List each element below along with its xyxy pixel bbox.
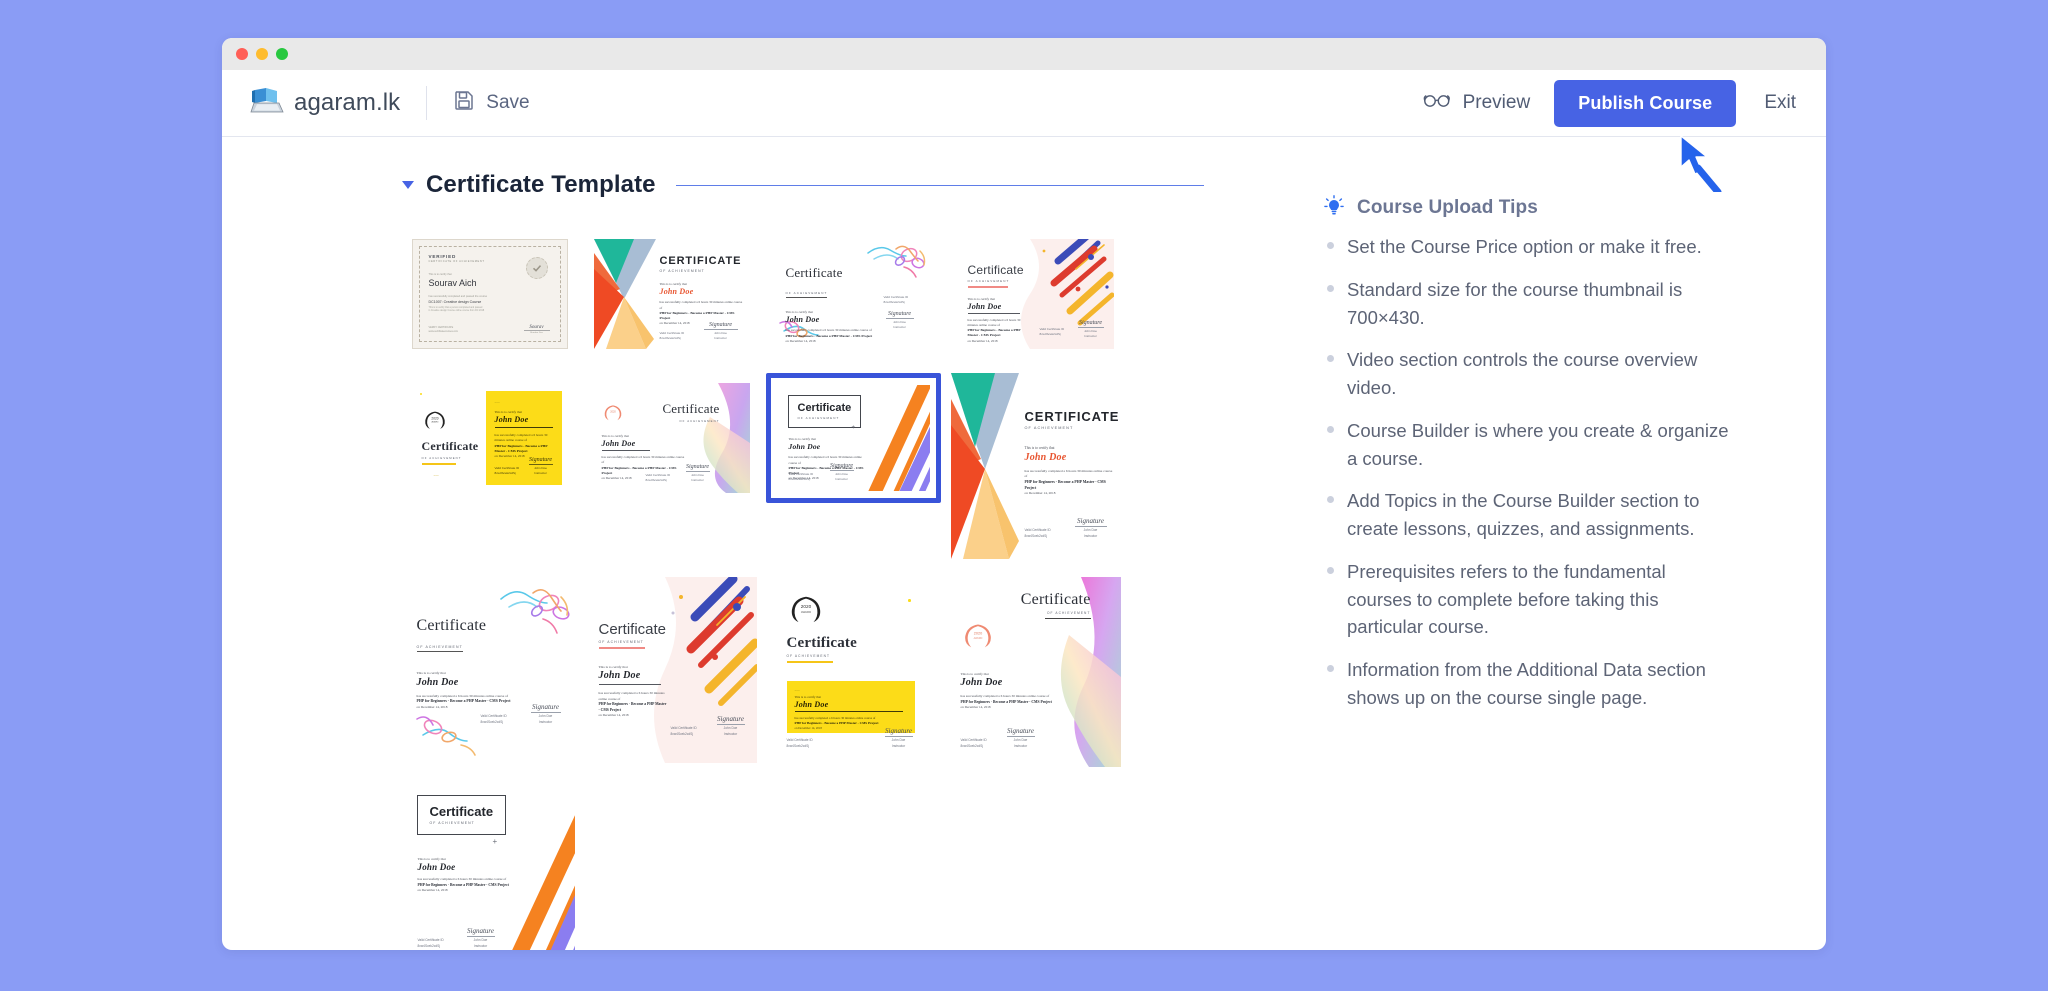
laurel-wreath-icon: 2020 AWARD <box>787 593 825 625</box>
bullet-icon <box>1327 285 1334 292</box>
top-navigation-bar: agaram.lk Save <box>222 70 1826 137</box>
tip-item: Information from the Additional Data sec… <box>1324 656 1744 712</box>
bullet-icon <box>1327 355 1334 362</box>
minimize-window-button[interactable] <box>256 48 268 60</box>
laurel-wreath-icon: 2020 <box>602 403 624 422</box>
bullet-icon <box>1327 567 1334 574</box>
svg-text:AWARD: AWARD <box>431 421 439 424</box>
template-option[interactable]: VERIFIED CERTIFICATE OF ACHIEVEMENT This… <box>402 229 577 359</box>
page-content: Certificate Template VERIFIED CERTIFICAT… <box>222 137 1826 950</box>
brand[interactable]: agaram.lk <box>250 87 400 120</box>
template-option[interactable]: Certificate OF ACHIEVEMENT This is to ce… <box>948 229 1123 359</box>
svg-text:2020: 2020 <box>973 632 981 636</box>
template-option-selected[interactable]: Certificate OF ACHIEVEMENT + This is to … <box>766 373 941 503</box>
app-window: agaram.lk Save <box>222 38 1826 950</box>
tip-item: Add Topics in the Course Builder section… <box>1324 487 1744 543</box>
glasses-icon <box>1422 91 1452 115</box>
preview-button[interactable]: Preview <box>1422 91 1531 115</box>
save-label: Save <box>486 92 529 114</box>
section-divider <box>676 185 1204 186</box>
page-title: Certificate Template <box>426 171 656 199</box>
section-header: Certificate Template <box>402 171 1244 199</box>
nav-divider <box>426 86 427 120</box>
template-option[interactable]: 2020 AWARD Certificate OF ACHIEVEMENT ~~… <box>766 577 941 767</box>
tip-item: Standard size for the course thumbnail i… <box>1324 276 1744 332</box>
svg-text:2020: 2020 <box>610 411 616 414</box>
certificate-template-section: Certificate Template VERIFIED CERTIFICAT… <box>222 171 1244 950</box>
svg-text:AWARD: AWARD <box>800 610 810 614</box>
bullet-icon <box>1327 665 1334 672</box>
tip-item: Video section controls the course overvi… <box>1324 346 1744 402</box>
bullet-icon <box>1327 426 1334 433</box>
template-option[interactable]: CERTIFICATE OF ACHIEVEMENT This is to ce… <box>948 373 1123 563</box>
template-option[interactable]: Certificate OF ACHIEVEMENT <box>948 577 1123 727</box>
template-option[interactable]: 2020 This is to certify that John Doe ha… <box>584 373 759 503</box>
svg-text:2020: 2020 <box>431 416 438 420</box>
close-window-button[interactable] <box>236 48 248 60</box>
publish-course-button[interactable]: Publish Course <box>1554 80 1736 127</box>
bullet-icon <box>1327 496 1334 503</box>
template-option[interactable]: CERTIFICATE OF ACHIEVEMENT This is to ce… <box>584 229 759 359</box>
tips-header: Course Upload Tips <box>1324 197 1744 219</box>
save-button[interactable]: Save <box>453 89 529 117</box>
certificate-template-grid: VERIFIED CERTIFICATE OF ACHIEVEMENT This… <box>402 229 1244 931</box>
bullet-icon <box>1327 242 1334 249</box>
course-upload-tips-panel: Course Upload Tips Set the Course Price … <box>1244 171 1744 950</box>
brand-name: agaram.lk <box>294 89 400 117</box>
window-titlebar <box>222 38 1826 70</box>
tip-item: Course Builder is where you create & org… <box>1324 417 1744 473</box>
preview-label: Preview <box>1463 92 1531 114</box>
svg-text:2020: 2020 <box>800 604 811 609</box>
laptop-book-logo-icon <box>250 87 284 120</box>
tip-item: Set the Course Price option or make it f… <box>1324 233 1744 261</box>
tip-item: Prerequisites refers to the fundamental … <box>1324 558 1744 641</box>
template-option[interactable]: Certificate OF ACHIEVEMENT This is to ce… <box>402 577 577 767</box>
laurel-wreath-icon: 2020 AWARD <box>422 409 448 431</box>
template-option[interactable]: 2020 AWARD Certificate OF ACHIEVEMENT ~~… <box>402 373 577 503</box>
caret-down-icon[interactable] <box>402 181 414 189</box>
maximize-window-button[interactable] <box>276 48 288 60</box>
floppy-disk-icon <box>453 89 475 117</box>
exit-button[interactable]: Exit <box>1764 92 1796 114</box>
svg-text:AWARD: AWARD <box>973 637 982 640</box>
template-option[interactable]: Certificate OF ACHIEVEMENT This is to ce… <box>584 577 759 767</box>
template-option[interactable]: Certificate OF ACHIEVEMENT + This is to … <box>402 781 577 931</box>
template-option[interactable]: Certificate OF ACHIEVEMENT This is to ce… <box>766 229 941 359</box>
tips-title: Course Upload Tips <box>1357 197 1538 219</box>
laurel-wreath-icon: 2020 AWARD <box>961 621 995 650</box>
lightbulb-icon <box>1324 195 1344 217</box>
